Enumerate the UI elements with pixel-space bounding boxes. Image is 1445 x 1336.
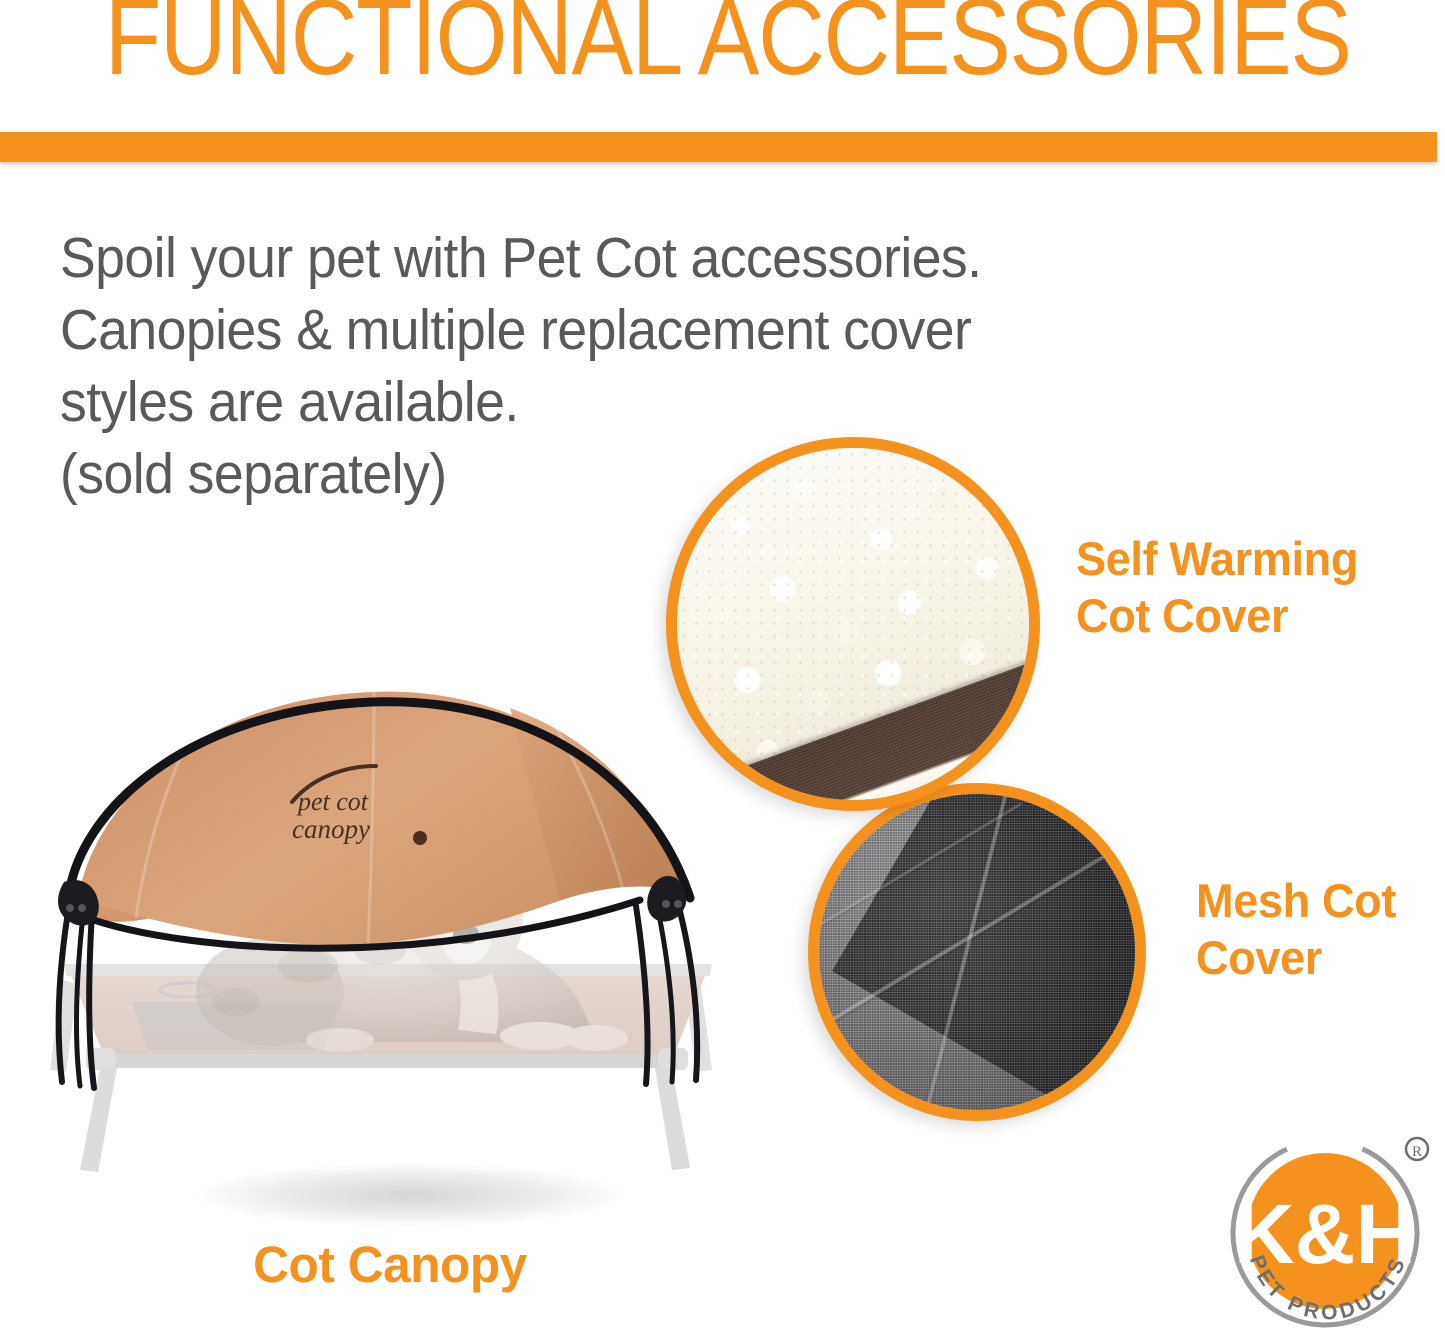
- feature-label-line-2: Cot Cover: [1076, 587, 1441, 644]
- canopy-grommet-left-b: [78, 904, 86, 912]
- feature-label-mesh-cot-cover: Mesh Cot Cover: [1196, 872, 1445, 986]
- mesh-vignette: [819, 794, 1135, 1110]
- intro-paragraph: Spoil your pet with Pet Cot accessories.…: [60, 222, 718, 510]
- feature-label-line-2: Cover: [1196, 929, 1445, 986]
- mesh-swatch-image: [819, 794, 1135, 1110]
- cot-leg-front-left: [80, 1058, 118, 1172]
- dog-coat-spot-3: [212, 988, 260, 1016]
- dog-coat-spot-1: [278, 949, 338, 983]
- cot-front-rail: [102, 1054, 676, 1068]
- product-photo-cot-canopy: pet cot canopy: [40, 650, 740, 1260]
- header-divider-rule: [0, 132, 1437, 162]
- dog-paw-rear: [306, 1028, 374, 1052]
- canopy-logo-line-2: canopy: [292, 814, 370, 844]
- logo-registered-mark: R: [1406, 1138, 1428, 1160]
- intro-line-3: styles are available.: [60, 366, 718, 438]
- canopy-grommet-left-a: [66, 904, 74, 912]
- canopy-grommet-right-a: [662, 900, 670, 908]
- sherpa-fleece-swatch: [666, 437, 1040, 811]
- intro-line-4: (sold separately): [60, 438, 718, 510]
- feature-label-line-1: Mesh Cot: [1196, 872, 1445, 929]
- intro-line-2: Canopies & multiple replacement cover: [60, 294, 718, 366]
- canopy-logo-registered-mark: [413, 831, 427, 845]
- brand-logo-kh-pet-products: K&H PET PRODUCTS R: [1227, 1133, 1435, 1333]
- canopy-grommet-right-b: [674, 900, 682, 908]
- feature-label-line-1: Self Warming: [1076, 530, 1441, 587]
- cot-leg-back-left: [50, 980, 78, 1072]
- sherpa-swatch-image: [677, 448, 1029, 800]
- mesh-fabric-swatch: [808, 783, 1146, 1121]
- intro-line-1: Spoil your pet with Pet Cot accessories.: [60, 222, 718, 294]
- page-title: FUNCTIONAL ACCESSORIES: [105, 0, 1340, 96]
- feature-label-self-warming-cot-cover: Self Warming Cot Cover: [1076, 530, 1441, 644]
- ground-shadow: [195, 1163, 625, 1227]
- canopy-logo-line-1: pet cot: [296, 787, 369, 816]
- dog-paw-front-right: [564, 1025, 628, 1051]
- svg-text:R: R: [1412, 1144, 1422, 1160]
